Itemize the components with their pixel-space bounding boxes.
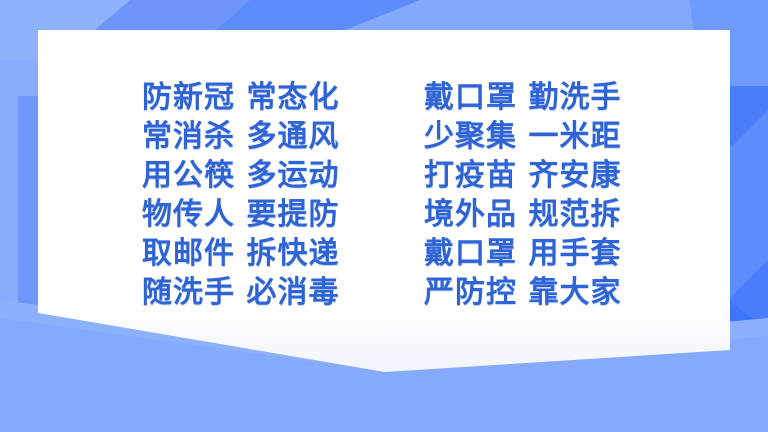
slogan-column-right: 戴口罩 勤洗手 少聚集 一米距 打疫苗 齐安康 境外品 规范拆 戴口罩 用手套 … (424, 78, 621, 312)
slogan-line: 境外品 规范拆 (424, 195, 621, 234)
slogan-line: 严防控 靠大家 (424, 273, 621, 312)
poster-canvas: 防新冠 常态化 常消杀 多通风 用公筷 多运动 物传人 要提防 取邮件 拆快递 … (0, 0, 768, 432)
slogan-line: 用公筷 多运动 (142, 156, 339, 195)
slogan-line: 打疫苗 齐安康 (424, 156, 621, 195)
slogan-line: 戴口罩 用手套 (424, 234, 621, 273)
slogan-column-left: 防新冠 常态化 常消杀 多通风 用公筷 多运动 物传人 要提防 取邮件 拆快递 … (142, 78, 339, 312)
slogan-line: 防新冠 常态化 (142, 78, 339, 117)
slogan-line: 物传人 要提防 (142, 195, 339, 234)
slogan-block: 防新冠 常态化 常消杀 多通风 用公筷 多运动 物传人 要提防 取邮件 拆快递 … (0, 0, 768, 432)
slogan-line: 随洗手 必消毒 (142, 273, 339, 312)
slogan-line: 常消杀 多通风 (142, 117, 339, 156)
slogan-line: 少聚集 一米距 (424, 117, 621, 156)
slogan-line: 取邮件 拆快递 (142, 234, 339, 273)
slogan-line: 戴口罩 勤洗手 (424, 78, 621, 117)
